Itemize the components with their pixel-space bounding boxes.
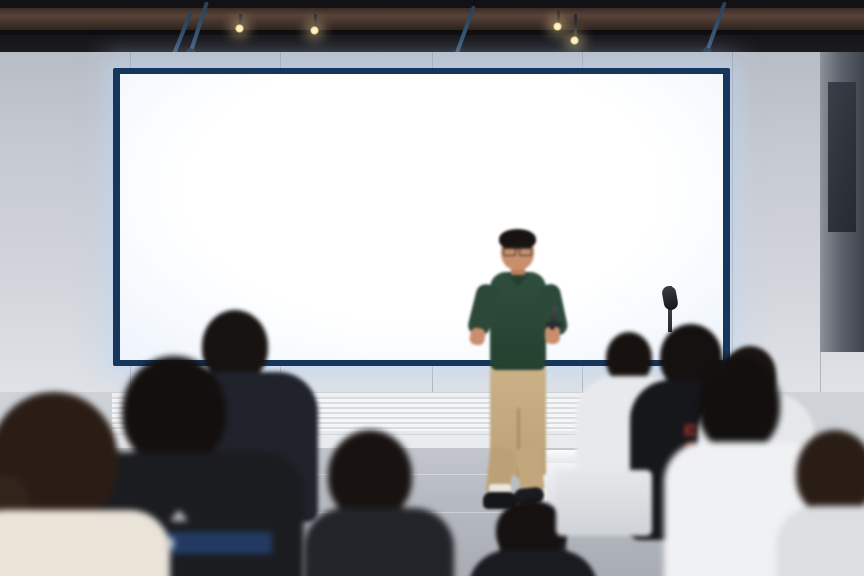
element-pill-legal-framework: A. 法律框架 (278, 220, 393, 242)
presenter (470, 232, 566, 522)
glasses-icon (503, 247, 532, 254)
detail-item: 股票、指数、汇率利率 (586, 261, 636, 270)
classification-sub-2: 根据客户个性化需求，定制设计，单独发行 (493, 194, 596, 201)
definition-line-1: 为了达到投资者的特定要求，并使投资者获利于其对某一或多种 (382, 135, 539, 145)
projection-screen: 什么是结构化产品 结构化产品 ❯ 产品分类 ❯ 基本要素 ❯ 为了达到投资者的特… (120, 74, 723, 360)
detail-header-5: 标的资产 (600, 250, 622, 258)
detail-item: 收益凭证 (305, 280, 325, 289)
pendant-light-2 (570, 36, 579, 45)
attendee-head (328, 430, 412, 520)
detail-header-1: 交易形式 (304, 250, 326, 258)
detail-item: 资产管理计划 (374, 280, 404, 289)
chair-back-2 (556, 470, 652, 536)
pendant-light-1 (235, 24, 244, 33)
pendant-light-4 (553, 22, 562, 31)
chevron-right-icon-1: ❯ (270, 139, 278, 150)
attendee-shirt (304, 508, 454, 576)
presenter-hand-left (469, 327, 487, 346)
chevron-right-icon-3: ❯ (270, 225, 278, 236)
detail-item: 信托计划 (379, 289, 399, 298)
definition-banner: 为了达到投资者的特定要求，并使投资者获利于其对某一或多种 金融资产价格的正确判断… (290, 132, 630, 158)
detail-item: 债券 (384, 270, 394, 279)
attendee-head (796, 430, 864, 516)
attendee-shirt (0, 510, 170, 576)
element-pill-row: A. 法律框架 B. 产品结构 C. 标的资产 (278, 220, 648, 242)
chevron-right-icon-2: ❯ (270, 184, 278, 195)
detail-item: 票据 (310, 289, 320, 298)
classification-column-flow: 流式结构性产品 标准化结构化产品，面向公众，批量发行 (291, 167, 460, 213)
detail-item: 信用 (606, 280, 616, 289)
row-label-structured-product: 结构化产品 (182, 141, 225, 152)
attendee-head (698, 356, 780, 452)
definition-line-2: 金融资产价格的正确判断，由一系列基本的金融工具组合在一起所构成的产品 (365, 145, 555, 155)
detail-columns: 交易形式 发行主体 结构性存款 收益凭证 票据 基金 产品包装 银行存款 债券 … (278, 250, 648, 317)
classification-heading-2: 定制化结构性产品 (517, 180, 573, 190)
detail-item: 基金、ETF (599, 289, 623, 298)
detail-item: 一篮子资产组合 (593, 298, 628, 307)
detail-item: 基金 (310, 298, 320, 307)
slide-title: 什么是结构化产品 (194, 100, 295, 117)
attendee-shirt (776, 506, 864, 576)
detail-column-trade-form: 交易形式 发行主体 结构性存款 收益凭证 票据 基金 (278, 250, 352, 317)
lighting-track (0, 30, 864, 35)
right-wall-dark-panel (820, 52, 864, 352)
presentation-slide: 什么是结构化产品 结构化产品 ❯ 产品分类 ❯ 基本要素 ❯ 为了达到投资者的特… (120, 74, 723, 360)
classification-column-custom: 定制化结构性产品 根据客户个性化需求，定制设计，单独发行 (460, 167, 630, 213)
projection-screen-frame: 什么是结构化产品 结构化产品 ❯ 产品分类 ❯ 基本要素 ❯ 为了达到投资者的特… (113, 68, 730, 366)
detail-item: 银行存款 (379, 261, 399, 270)
pendant-cord-2 (574, 14, 577, 38)
detail-item: 商品 (606, 270, 616, 279)
tshirt-brand-logo-icon (170, 510, 188, 521)
presenter-polo-shirt (490, 272, 546, 370)
title-underline (194, 119, 646, 121)
detail-column-packaging: 产品包装 银行存款 债券 资产管理计划 信托计划 基金 (352, 250, 426, 317)
detail-item: 发行主体 (305, 261, 325, 270)
wall-panel-6 (732, 52, 821, 392)
wooden-ceiling-beam (0, 8, 864, 32)
classification-box: 流式结构性产品 标准化结构化产品，面向公众，批量发行 定制化结构性产品 根据客户… (290, 166, 630, 214)
detail-column-underlying: 标的资产 股票、指数、汇率利率 商品 信用 基金、ETF 一篮子资产组合 (574, 250, 648, 317)
classification-sub-1: 标准化结构化产品，面向公众，批量发行 (327, 194, 424, 201)
detail-item: 结构性存款 (302, 270, 327, 279)
ceiling (0, 0, 864, 52)
presenter-wristwatch (546, 322, 562, 327)
detail-item: 基金 (384, 298, 394, 307)
attendee-head (122, 356, 226, 466)
row-label-basic-elements: 基本要素 (188, 227, 222, 238)
classification-heading-1: 流式结构性产品 (351, 180, 400, 190)
pendant-light-3 (310, 26, 319, 35)
row-label-classification: 产品分类 (188, 186, 222, 197)
detail-header-2: 产品包装 (378, 250, 400, 258)
presenter-hair (499, 229, 536, 249)
lecture-hall-photo: 什么是结构化产品 结构化产品 ❯ 产品分类 ❯ 基本要素 ❯ 为了达到投资者的特… (0, 0, 864, 576)
